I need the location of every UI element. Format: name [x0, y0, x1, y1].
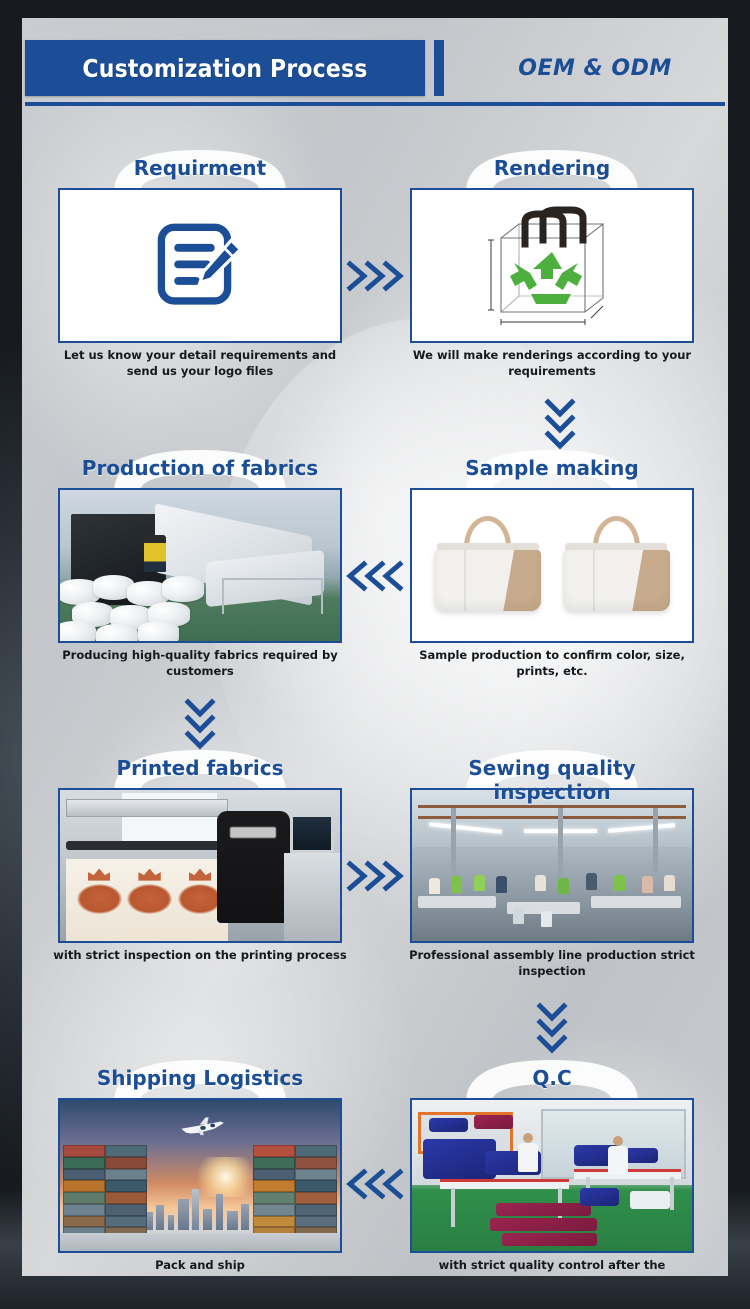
step-title: Printed fabrics [58, 756, 342, 780]
step-media-card [58, 788, 342, 943]
document-pencil-icon [154, 220, 246, 312]
step-media-card [58, 488, 342, 643]
step-media-card [410, 788, 694, 943]
step-caption: Pack and ship [50, 1258, 350, 1274]
step-caption: We will make renderings according to you… [402, 348, 702, 379]
airplane-icon [161, 1115, 245, 1139]
fabric-rolls-photo [60, 490, 340, 641]
content-panel: Customization Process OEM & ODM Requirme… [22, 18, 728, 1276]
step-caption: with strict quality control after the pr… [402, 1258, 702, 1276]
step-caption: Let us know your detail requirements and… [50, 348, 350, 379]
step-title: Shipping Logistics [58, 1066, 342, 1090]
step-media-card [58, 188, 342, 343]
step-media-card [410, 188, 694, 343]
step-title: Sewing quality inspection [410, 756, 694, 804]
connector-chevron-left-sample-to-fabrics [344, 558, 406, 594]
step-title: Sample making [410, 456, 694, 480]
connector-chevron-down-sewing-to-qc [534, 1000, 570, 1056]
step-caption: Professional assembly line production st… [402, 948, 702, 979]
step-media-card [410, 488, 694, 643]
sewing-factory-floor-photo [412, 790, 692, 941]
process-grid: Requirment Let us know your detail requi… [22, 18, 728, 1276]
digital-printing-machine-photo [60, 790, 340, 941]
step-title: Rendering [410, 156, 694, 180]
step-caption: Sample production to confirm color, size… [402, 648, 702, 679]
sample-tote-bags-photo [412, 490, 692, 641]
step-caption: Producing high-quality fabrics required … [50, 648, 350, 679]
step-title: Production of fabrics [58, 456, 342, 480]
3d-bag-render-icon [467, 200, 637, 332]
connector-chevron-right-printed-to-sewing [344, 858, 406, 894]
step-title: Requirment [58, 156, 342, 180]
step-caption: with strict inspection on the printing p… [50, 948, 350, 964]
air-sea-freight-photo [60, 1100, 340, 1251]
connector-chevron-right-req-to-render [344, 258, 406, 294]
step-media-card [58, 1098, 342, 1253]
connector-chevron-down-render-to-sample [542, 396, 578, 452]
quality-control-room-photo [412, 1100, 692, 1251]
connector-chevron-down-fabrics-to-printed [182, 696, 218, 752]
step-title: Q.C [410, 1066, 694, 1090]
connector-chevron-left-qc-to-shipping [344, 1166, 406, 1202]
step-media-card [410, 1098, 694, 1253]
